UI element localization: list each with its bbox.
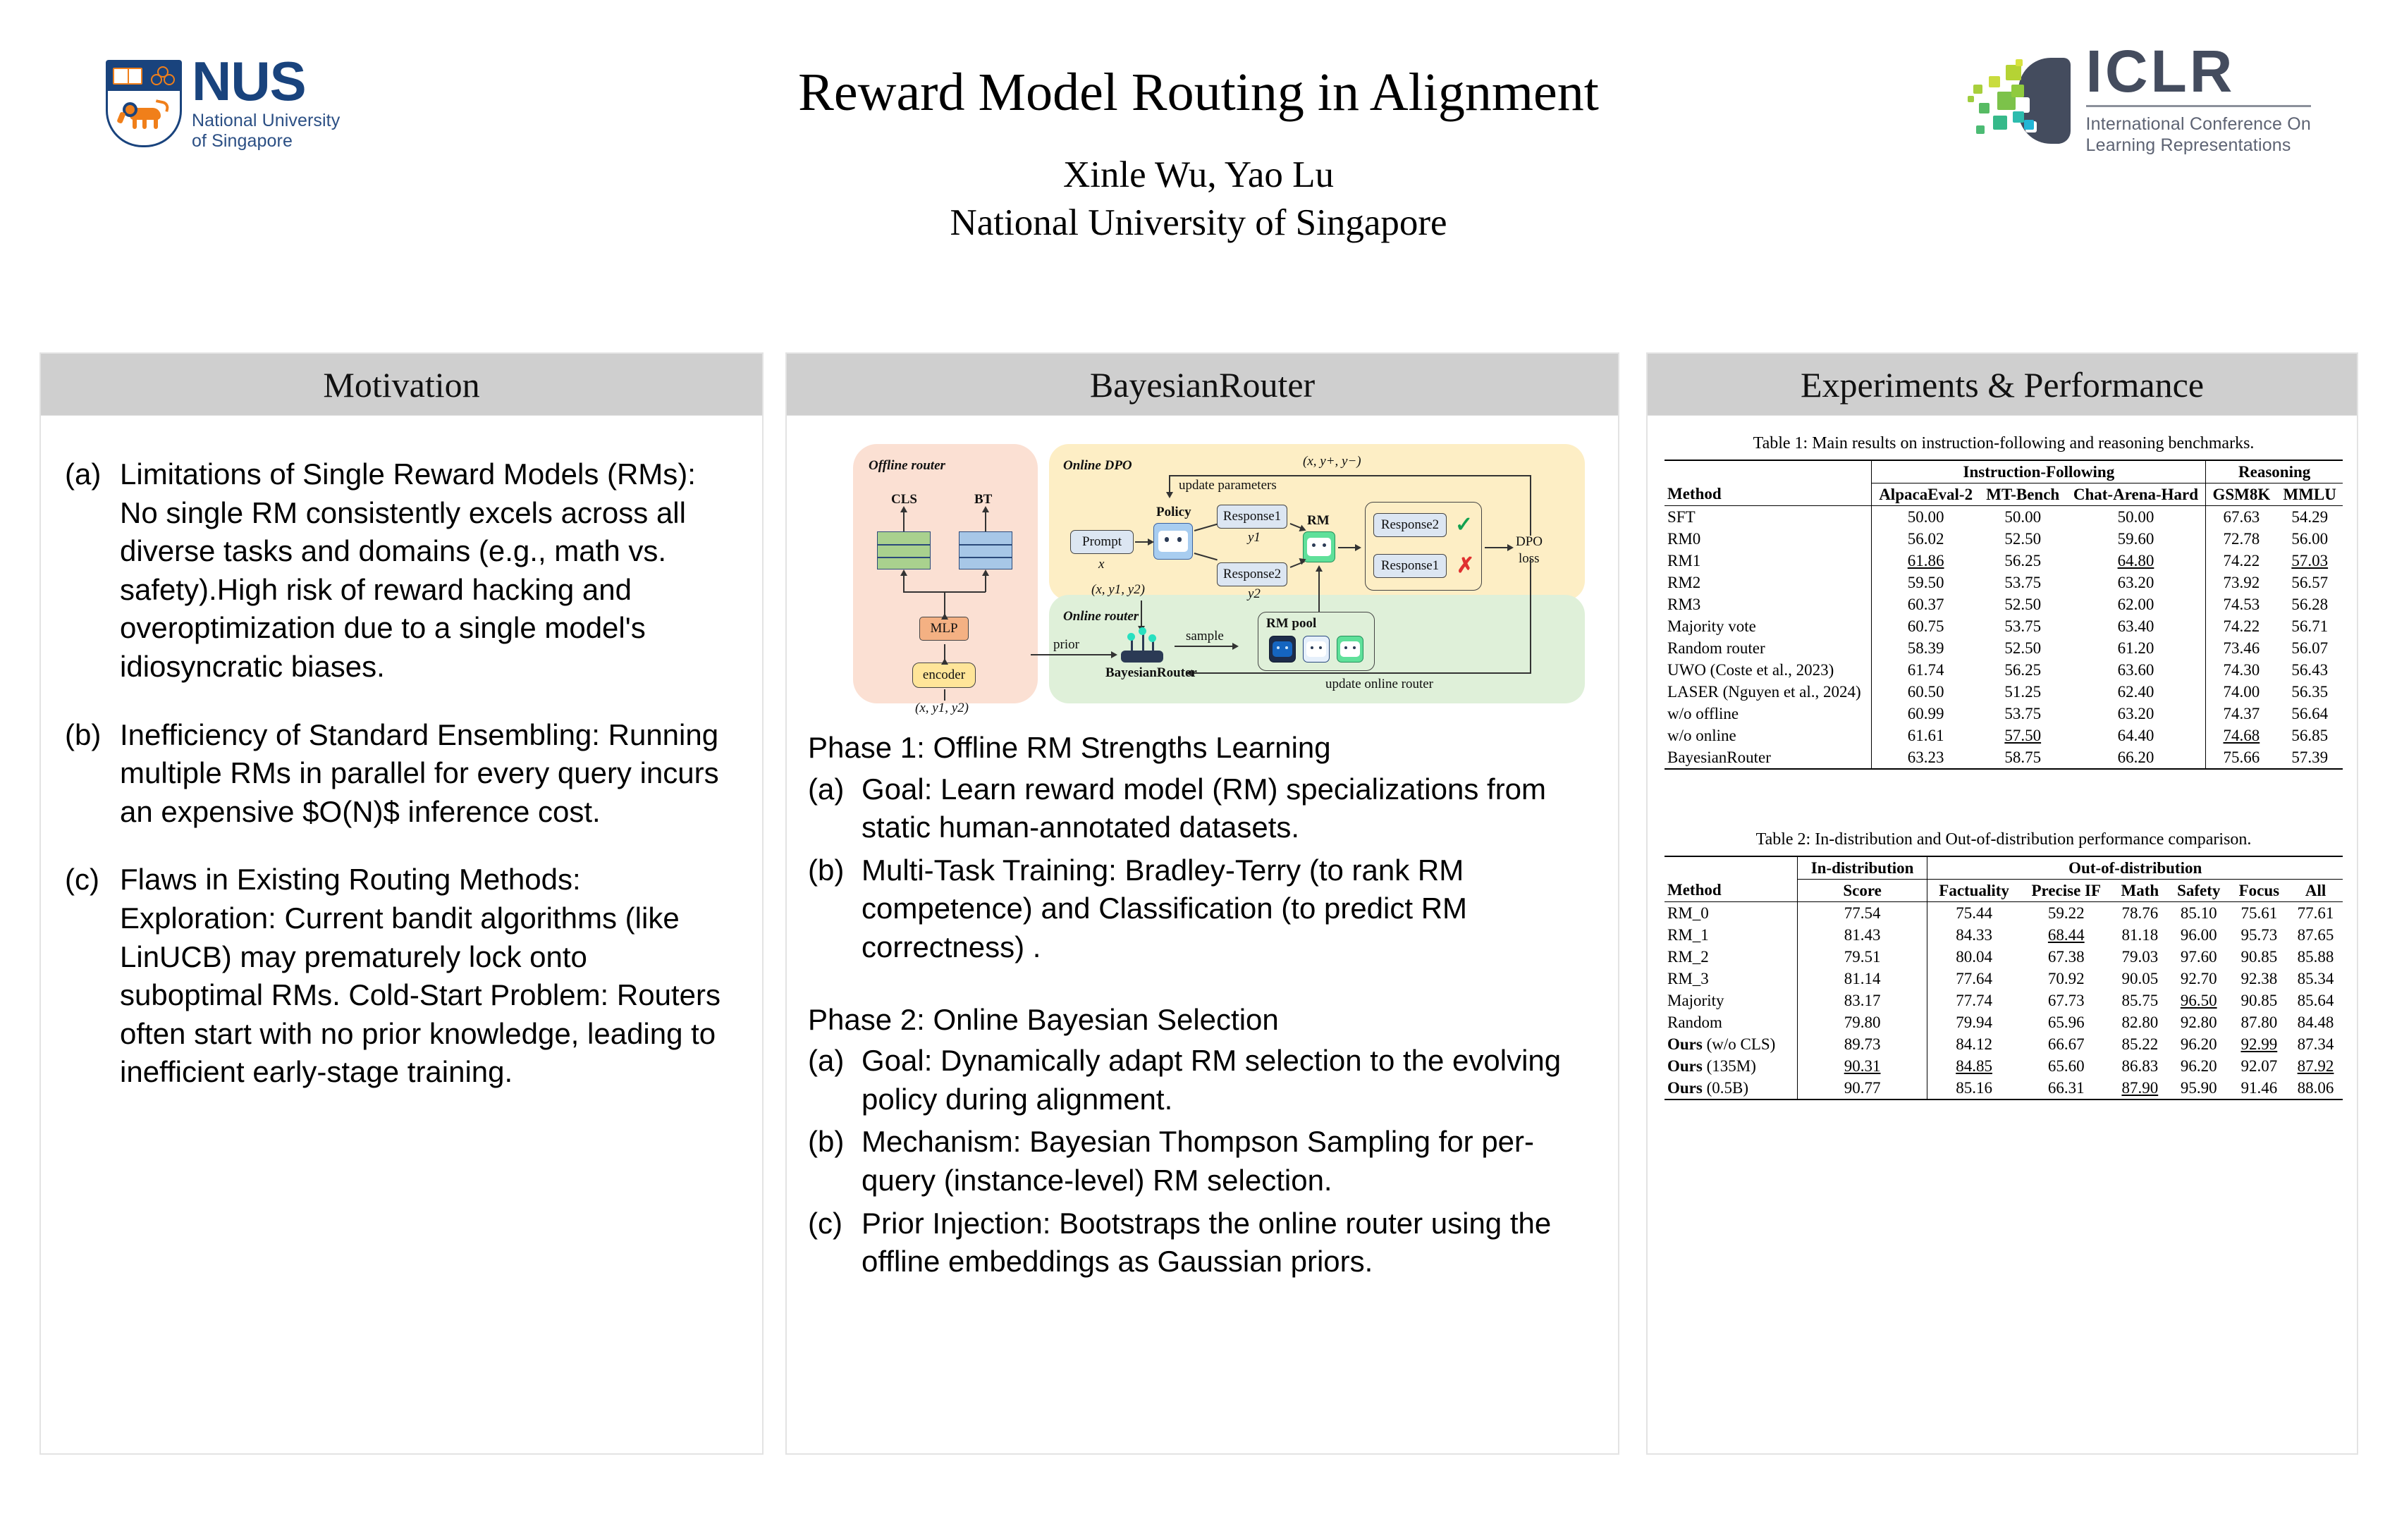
- table-cell: 63.20: [2066, 572, 2206, 593]
- table-cell-method: LASER (Nguyen et al., 2024): [1665, 681, 1872, 703]
- bullet-text: Limitations of Single Reward Models (RMs…: [120, 455, 734, 686]
- table-cell: 92.07: [2230, 1055, 2288, 1077]
- table-cell: 67.63: [2206, 506, 2277, 529]
- table-cell: 75.61: [2230, 902, 2288, 925]
- table-row: LASER (Nguyen et al., 2024)60.5051.2562.…: [1665, 681, 2343, 703]
- table-cell: 96.20: [2168, 1033, 2230, 1055]
- table-cell: 65.60: [2021, 1055, 2112, 1077]
- table-cell: 81.14: [1797, 968, 1927, 990]
- table-cell: 66.31: [2021, 1077, 2112, 1099]
- table-cell: 89.73: [1797, 1033, 1927, 1055]
- table-cell-method: w/o offline: [1665, 703, 1872, 725]
- table-cell: 65.96: [2021, 1011, 2112, 1033]
- table-cell: 75.66: [2206, 746, 2277, 769]
- table-cell-method: SFT: [1665, 506, 1872, 529]
- prompt-variable-label: x: [1098, 557, 1104, 572]
- table-cell: 61.74: [1872, 659, 1980, 681]
- response1-block: Response1: [1217, 505, 1287, 529]
- table-cell: 56.64: [2276, 703, 2343, 725]
- table-cell: 74.00: [2206, 681, 2277, 703]
- offline-router-label: Offline router: [869, 458, 945, 474]
- table-cell: 52.50: [1980, 593, 2066, 615]
- table-cell: 57.03: [2276, 550, 2343, 572]
- table-cell-method: Random router: [1665, 637, 1872, 659]
- table-cell-method: Ours (135M): [1665, 1055, 1797, 1077]
- table-cell: 59.50: [1872, 572, 1980, 593]
- ranked-response-top: Response2: [1373, 513, 1447, 537]
- table-cell: 90.77: [1797, 1077, 1927, 1099]
- table-cell: 57.39: [2276, 746, 2343, 769]
- panel-motivation-header: Motivation: [41, 354, 762, 416]
- table-cell: 50.00: [1980, 506, 2066, 529]
- table-column-header: GSM8K: [2206, 483, 2277, 506]
- bullet-text: Goal: Dynamically adapt RM selection to …: [862, 1042, 1598, 1119]
- table-cell: 56.57: [2276, 572, 2343, 593]
- rm-pool-bot-2-icon: [1303, 636, 1330, 663]
- table-cell: 87.65: [2288, 924, 2343, 946]
- table-cell: 96.20: [2168, 1055, 2230, 1077]
- table-cell: 64.40: [2066, 725, 2206, 746]
- table-cell: 86.83: [2112, 1055, 2168, 1077]
- table-cell: 90.05: [2112, 968, 2168, 990]
- response1-variable-label: y1: [1248, 530, 1261, 546]
- table-cell: 73.46: [2206, 637, 2277, 659]
- table-cell: 60.50: [1872, 681, 1980, 703]
- table-cell-method: RM_1: [1665, 924, 1797, 946]
- table-cell: 97.60: [2168, 946, 2230, 968]
- table-cell-method: Ours (w/o CLS): [1665, 1033, 1797, 1055]
- bullet-marker: (a): [808, 770, 852, 847]
- table-cell: 60.75: [1872, 615, 1980, 637]
- triple-label: (x, y1, y2): [1091, 582, 1145, 598]
- table-cell: 60.99: [1872, 703, 1980, 725]
- bullet-marker: (b): [808, 1123, 852, 1200]
- rm-pool-label: RM pool: [1266, 616, 1316, 632]
- table-cell: 56.02: [1872, 528, 1980, 550]
- table-cell: 52.50: [1980, 637, 2066, 659]
- table-column-header: Factuality: [1927, 880, 2021, 902]
- page-title: Reward Model Routing in Alignment: [0, 62, 2397, 123]
- table-cell: 92.80: [2168, 1011, 2230, 1033]
- table-cell: 61.61: [1872, 725, 1980, 746]
- dpo-loss-label-line2: loss: [1519, 551, 1540, 567]
- panel-method: BayesianRouter Offline router CLS BT: [785, 352, 1619, 1455]
- rm-label: RM: [1307, 513, 1330, 529]
- list-item: (b) Mechanism: Bayesian Thompson Samplin…: [808, 1123, 1598, 1200]
- table-cell: 79.80: [1797, 1011, 1927, 1033]
- table-column-header: Method: [1665, 880, 1797, 902]
- table-cell: 82.80: [2112, 1011, 2168, 1033]
- table-cell: 50.00: [2066, 506, 2206, 529]
- bullet-text: Prior Injection: Bootstraps the online r…: [862, 1205, 1598, 1281]
- bullet-marker: (b): [808, 851, 852, 967]
- table-column-header: All: [2288, 880, 2343, 902]
- bullet-marker: (c): [808, 1205, 852, 1281]
- sample-label: sample: [1186, 629, 1224, 644]
- table-cell: 56.25: [1980, 550, 2066, 572]
- table-2: Table 2: In-distribution and Out-of-dist…: [1665, 830, 2343, 1100]
- bullet-marker: (a): [65, 455, 110, 686]
- table-cell: 53.75: [1980, 703, 2066, 725]
- table-cell: 56.07: [2276, 637, 2343, 659]
- table-cell: 50.00: [1872, 506, 1980, 529]
- table-column-header: MT-Bench: [1980, 483, 2066, 506]
- method-text: Phase 1: Offline RM Strengths Learning (…: [787, 713, 1618, 1281]
- table-cell: 74.68: [2206, 725, 2277, 746]
- table-cell-method: Random: [1665, 1011, 1797, 1033]
- table-cell: 77.74: [1927, 990, 2021, 1011]
- table-cell: 85.75: [2112, 990, 2168, 1011]
- table-group-header: Instruction-Following: [1872, 460, 2206, 483]
- table-cell: 88.06: [2288, 1077, 2343, 1099]
- table-cell-method: RM1: [1665, 550, 1872, 572]
- table-cell: 56.35: [2276, 681, 2343, 703]
- table-1: Table 1: Main results on instruction-fol…: [1665, 434, 2343, 770]
- table-cell-method: RM0: [1665, 528, 1872, 550]
- table-cell: 56.28: [2276, 593, 2343, 615]
- table-cell: 84.12: [1927, 1033, 2021, 1055]
- table-cell: 95.73: [2230, 924, 2288, 946]
- title-block: Reward Model Routing in Alignment Xinle …: [0, 0, 2397, 247]
- table-column-header: Method: [1665, 483, 1872, 506]
- table-row: RM_381.1477.6470.9290.0592.7092.3885.34: [1665, 968, 2343, 990]
- table-cell: 62.00: [2066, 593, 2206, 615]
- author-list: Xinle Wu, Yao Lu: [0, 152, 2397, 199]
- table-cell: 74.53: [2206, 593, 2277, 615]
- phase2-heading: Phase 2: Online Bayesian Selection: [808, 1001, 1598, 1040]
- table-cell: 67.73: [2021, 990, 2112, 1011]
- panel-motivation: Motivation (a) Limitations of Single Rew…: [39, 352, 764, 1455]
- table-row: RM360.3752.5062.0074.5356.28: [1665, 593, 2343, 615]
- table-cell: 58.39: [1872, 637, 1980, 659]
- table-cell: 77.61: [2288, 902, 2343, 925]
- bullet-marker: (b): [65, 716, 110, 832]
- panel-results-body: Table 1: Main results on instruction-fol…: [1648, 416, 2357, 1453]
- table-cell: 54.29: [2276, 506, 2343, 529]
- table-cell-method: RM2: [1665, 572, 1872, 593]
- rm-pool-bot-1-icon: [1269, 636, 1296, 663]
- table-cell: 70.92: [2021, 968, 2112, 990]
- table-cell: 72.78: [2206, 528, 2277, 550]
- table-1-grid: Instruction-FollowingReasoningMethodAlpa…: [1665, 460, 2343, 770]
- table-row: RM259.5053.7563.2073.9256.57: [1665, 572, 2343, 593]
- table-cell: 74.22: [2206, 615, 2277, 637]
- table-cell: 67.38: [2021, 946, 2112, 968]
- table-row: RM161.8656.2564.8074.2257.03: [1665, 550, 2343, 572]
- table-cell: 85.10: [2168, 902, 2230, 925]
- bt-label: BT: [974, 492, 992, 507]
- list-item: (c) Flaws in Existing Routing Methods: E…: [65, 861, 734, 1092]
- update-online-router-label: update online router: [1325, 677, 1433, 692]
- panel-method-body: Offline router CLS BT ML: [787, 431, 1618, 1469]
- table-row: Ours (w/o CLS)89.7384.1266.6785.2296.209…: [1665, 1033, 2343, 1055]
- table-cell: 87.90: [2112, 1077, 2168, 1099]
- bullet-text: Multi-Task Training: Bradley-Terry (to r…: [862, 851, 1598, 967]
- list-item: (b) Multi-Task Training: Bradley-Terry (…: [808, 851, 1598, 967]
- table-cell-method: Majority: [1665, 990, 1797, 1011]
- table-row: RM_181.4384.3368.4481.1896.0095.7387.65: [1665, 924, 2343, 946]
- table-cell: 85.22: [2112, 1033, 2168, 1055]
- table-cell: 74.37: [2206, 703, 2277, 725]
- preference-pair-label: (x, y+, y−): [1303, 454, 1361, 469]
- table-row: Random79.8079.9465.9682.8092.8087.8084.4…: [1665, 1011, 2343, 1033]
- check-icon: ✓: [1455, 515, 1473, 536]
- table-cell: 62.40: [2066, 681, 2206, 703]
- table-row: Ours (0.5B)90.7785.1666.3187.9095.9091.4…: [1665, 1077, 2343, 1099]
- table-group-header: Reasoning: [2206, 460, 2343, 483]
- table-cell: 73.92: [2206, 572, 2277, 593]
- table-row: RM056.0252.5059.6072.7856.00: [1665, 528, 2343, 550]
- table-2-grid: In-distributionOut-of-distributionMethod…: [1665, 856, 2343, 1100]
- rm-pool-bot-3-icon: [1337, 636, 1363, 663]
- table-cell: 63.60: [2066, 659, 2206, 681]
- table-cell: 66.20: [2066, 746, 2206, 769]
- table-cell: 66.67: [2021, 1033, 2112, 1055]
- update-parameters-label: update parameters: [1179, 478, 1277, 493]
- list-item: (a) Limitations of Single Reward Models …: [65, 455, 734, 686]
- table-cell: 74.30: [2206, 659, 2277, 681]
- table-cell-method: RM_3: [1665, 968, 1797, 990]
- panel-method-title: BayesianRouter: [1090, 364, 1315, 405]
- table-cell: 75.44: [1927, 902, 2021, 925]
- table-cell: 84.85: [1927, 1055, 2021, 1077]
- table-cell: 51.25: [1980, 681, 2066, 703]
- table-cell-method: BayesianRouter: [1665, 746, 1872, 769]
- bt-head-block: [959, 531, 1012, 569]
- table-cell: 56.00: [2276, 528, 2343, 550]
- panel-results: Experiments & Performance Table 1: Main …: [1646, 352, 2358, 1455]
- table-row: BayesianRouter63.2358.7566.2075.6657.39: [1665, 746, 2343, 769]
- offline-input-label: (x, y1, y2): [915, 701, 969, 716]
- table-cell: 85.34: [2288, 968, 2343, 990]
- bullet-marker: (a): [808, 1042, 852, 1119]
- table-cell: 90.85: [2230, 990, 2288, 1011]
- list-item: (c) Prior Injection: Bootstraps the onli…: [808, 1205, 1598, 1281]
- policy-bot-icon: [1153, 523, 1193, 560]
- table-cell: 92.99: [2230, 1033, 2288, 1055]
- table-cell: 90.85: [2230, 946, 2288, 968]
- panel-motivation-title: Motivation: [323, 364, 479, 405]
- online-router-label: Online router: [1063, 609, 1139, 624]
- table-column-header: Safety: [2168, 880, 2230, 902]
- table-cell: 60.37: [1872, 593, 1980, 615]
- table-cell-method: Majority vote: [1665, 615, 1872, 637]
- table-cell: 85.64: [2288, 990, 2343, 1011]
- table-cell: 74.22: [2206, 550, 2277, 572]
- cls-head-block: [877, 531, 931, 569]
- affiliation: National University of Singapore: [0, 199, 2397, 247]
- bullet-marker: (c): [65, 861, 110, 1092]
- table-cell: 59.60: [2066, 528, 2206, 550]
- table-cell: 83.17: [1797, 990, 1927, 1011]
- table-cell: 95.90: [2168, 1077, 2230, 1099]
- online-dpo-label: Online DPO: [1063, 458, 1132, 474]
- table-row: Majority vote60.7553.7563.4074.2256.71: [1665, 615, 2343, 637]
- panel-results-header: Experiments & Performance: [1648, 354, 2357, 416]
- poster-header: NUS National University of Singapore: [0, 0, 2397, 331]
- table-cell: 85.88: [2288, 946, 2343, 968]
- bayesian-router-icon: [1121, 630, 1163, 663]
- mlp-block: MLP: [919, 617, 969, 641]
- table-cell: 59.22: [2021, 902, 2112, 925]
- table-cell: 63.20: [2066, 703, 2206, 725]
- table-cell: 92.70: [2168, 968, 2230, 990]
- panel-motivation-body: (a) Limitations of Single Reward Models …: [41, 416, 762, 1453]
- table-cell: 79.51: [1797, 946, 1927, 968]
- response2-variable-label: y2: [1248, 586, 1261, 602]
- table-group-header: In-distribution: [1797, 856, 1927, 880]
- table-cell: 87.92: [2288, 1055, 2343, 1077]
- list-item: (b) Inefficiency of Standard Ensembling:…: [65, 716, 734, 832]
- dpo-loss-label-line1: DPO: [1516, 534, 1543, 550]
- architecture-diagram: Offline router CLS BT ML: [809, 431, 1595, 713]
- table-cell: 64.80: [2066, 550, 2206, 572]
- table-cell-method: RM_2: [1665, 946, 1797, 968]
- table-row: RM_077.5475.4459.2278.7685.1075.6177.61: [1665, 902, 2343, 925]
- poster-root: NUS National University of Singapore: [0, 0, 2397, 1540]
- table-row: UWO (Coste et al., 2023)61.7456.2563.607…: [1665, 659, 2343, 681]
- table-cell: 96.50: [2168, 990, 2230, 1011]
- table-row: Random router58.3952.5061.2073.4656.07: [1665, 637, 2343, 659]
- table-cell: 56.85: [2276, 725, 2343, 746]
- table-cell: 79.03: [2112, 946, 2168, 968]
- bullet-text: Mechanism: Bayesian Thompson Sampling fo…: [862, 1123, 1598, 1200]
- table-cell: 57.50: [1980, 725, 2066, 746]
- motivation-list: (a) Limitations of Single Reward Models …: [41, 416, 762, 1092]
- table-cell: 87.34: [2288, 1033, 2343, 1055]
- table-row: w/o online61.6157.5064.4074.6856.85: [1665, 725, 2343, 746]
- cross-icon: ✗: [1457, 555, 1474, 577]
- table-cell: 91.46: [2230, 1077, 2288, 1099]
- prior-label: prior: [1053, 637, 1079, 653]
- table-cell: 56.71: [2276, 615, 2343, 637]
- table-cell: 96.00: [2168, 924, 2230, 946]
- table-column-header: Chat-Arena-Hard: [2066, 483, 2206, 506]
- encoder-block: encoder: [912, 663, 976, 688]
- table-cell: 81.43: [1797, 924, 1927, 946]
- table-cell: 84.48: [2288, 1011, 2343, 1033]
- list-item: (a) Goal: Learn reward model (RM) specia…: [808, 770, 1598, 847]
- table-cell: 56.25: [1980, 659, 2066, 681]
- table-cell-method: Ours (0.5B): [1665, 1077, 1797, 1099]
- response2-block: Response2: [1217, 562, 1287, 586]
- table-cell: 58.75: [1980, 746, 2066, 769]
- table-cell: 56.43: [2276, 659, 2343, 681]
- table-cell: 85.16: [1927, 1077, 2021, 1099]
- table-column-header: MMLU: [2276, 483, 2343, 506]
- table-cell: 53.75: [1980, 572, 2066, 593]
- table-column-header: Score: [1797, 880, 1927, 902]
- table-cell: 81.18: [2112, 924, 2168, 946]
- table-column-header: Precise IF: [2021, 880, 2112, 902]
- ranked-response-bottom: Response1: [1373, 554, 1447, 578]
- panel-results-title: Experiments & Performance: [1801, 364, 2204, 405]
- list-item: (a) Goal: Dynamically adapt RM selection…: [808, 1042, 1598, 1119]
- table-cell: 90.31: [1797, 1055, 1927, 1077]
- table-cell: 68.44: [2021, 924, 2112, 946]
- table-cell: 61.20: [2066, 637, 2206, 659]
- table-cell-method: w/o online: [1665, 725, 1872, 746]
- table-cell: 77.64: [1927, 968, 2021, 990]
- table-cell: 80.04: [1927, 946, 2021, 968]
- table-row: Majority83.1777.7467.7385.7596.5090.8585…: [1665, 990, 2343, 1011]
- table-column-header: Math: [2112, 880, 2168, 902]
- panel-method-header: BayesianRouter: [787, 354, 1618, 416]
- table-group-header: Out-of-distribution: [1927, 856, 2343, 880]
- table-cell: 84.33: [1927, 924, 2021, 946]
- table-column-header: AlpacaEval-2: [1872, 483, 1980, 506]
- bullet-text: Flaws in Existing Routing Methods: Explo…: [120, 861, 734, 1092]
- phase1-heading: Phase 1: Offline RM Strengths Learning: [808, 729, 1598, 768]
- table-cell: 87.80: [2230, 1011, 2288, 1033]
- table-cell: 77.54: [1797, 902, 1927, 925]
- prompt-block: Prompt: [1070, 530, 1134, 554]
- cls-label: CLS: [891, 492, 917, 507]
- table-cell-method: RM3: [1665, 593, 1872, 615]
- table-cell: 61.86: [1872, 550, 1980, 572]
- table-cell: 53.75: [1980, 615, 2066, 637]
- table-column-header: Focus: [2230, 880, 2288, 902]
- bullet-text: Goal: Learn reward model (RM) specializa…: [862, 770, 1598, 847]
- table-2-caption: Table 2: In-distribution and Out-of-dist…: [1665, 830, 2343, 849]
- table-row: w/o offline60.9953.7563.2074.3756.64: [1665, 703, 2343, 725]
- table-cell: 79.94: [1927, 1011, 2021, 1033]
- table-1-caption: Table 1: Main results on instruction-fol…: [1665, 434, 2343, 453]
- table-cell-method: RM_0: [1665, 902, 1797, 925]
- table-row: SFT50.0050.0050.0067.6354.29: [1665, 506, 2343, 529]
- table-cell: 78.76: [2112, 902, 2168, 925]
- policy-label: Policy: [1156, 505, 1191, 520]
- table-cell: 63.40: [2066, 615, 2206, 637]
- table-cell-method: UWO (Coste et al., 2023): [1665, 659, 1872, 681]
- bayesian-router-name: BayesianRouter: [1105, 665, 1197, 681]
- bullet-text: Inefficiency of Standard Ensembling: Run…: [120, 716, 734, 832]
- table-row: RM_279.5180.0467.3879.0397.6090.8585.88: [1665, 946, 2343, 968]
- table-cell: 63.23: [1872, 746, 1980, 769]
- table-cell: 92.38: [2230, 968, 2288, 990]
- table-row: Ours (135M)90.3184.8565.6086.8396.2092.0…: [1665, 1055, 2343, 1077]
- table-cell: 52.50: [1980, 528, 2066, 550]
- selected-rm-bot-icon: [1303, 531, 1335, 562]
